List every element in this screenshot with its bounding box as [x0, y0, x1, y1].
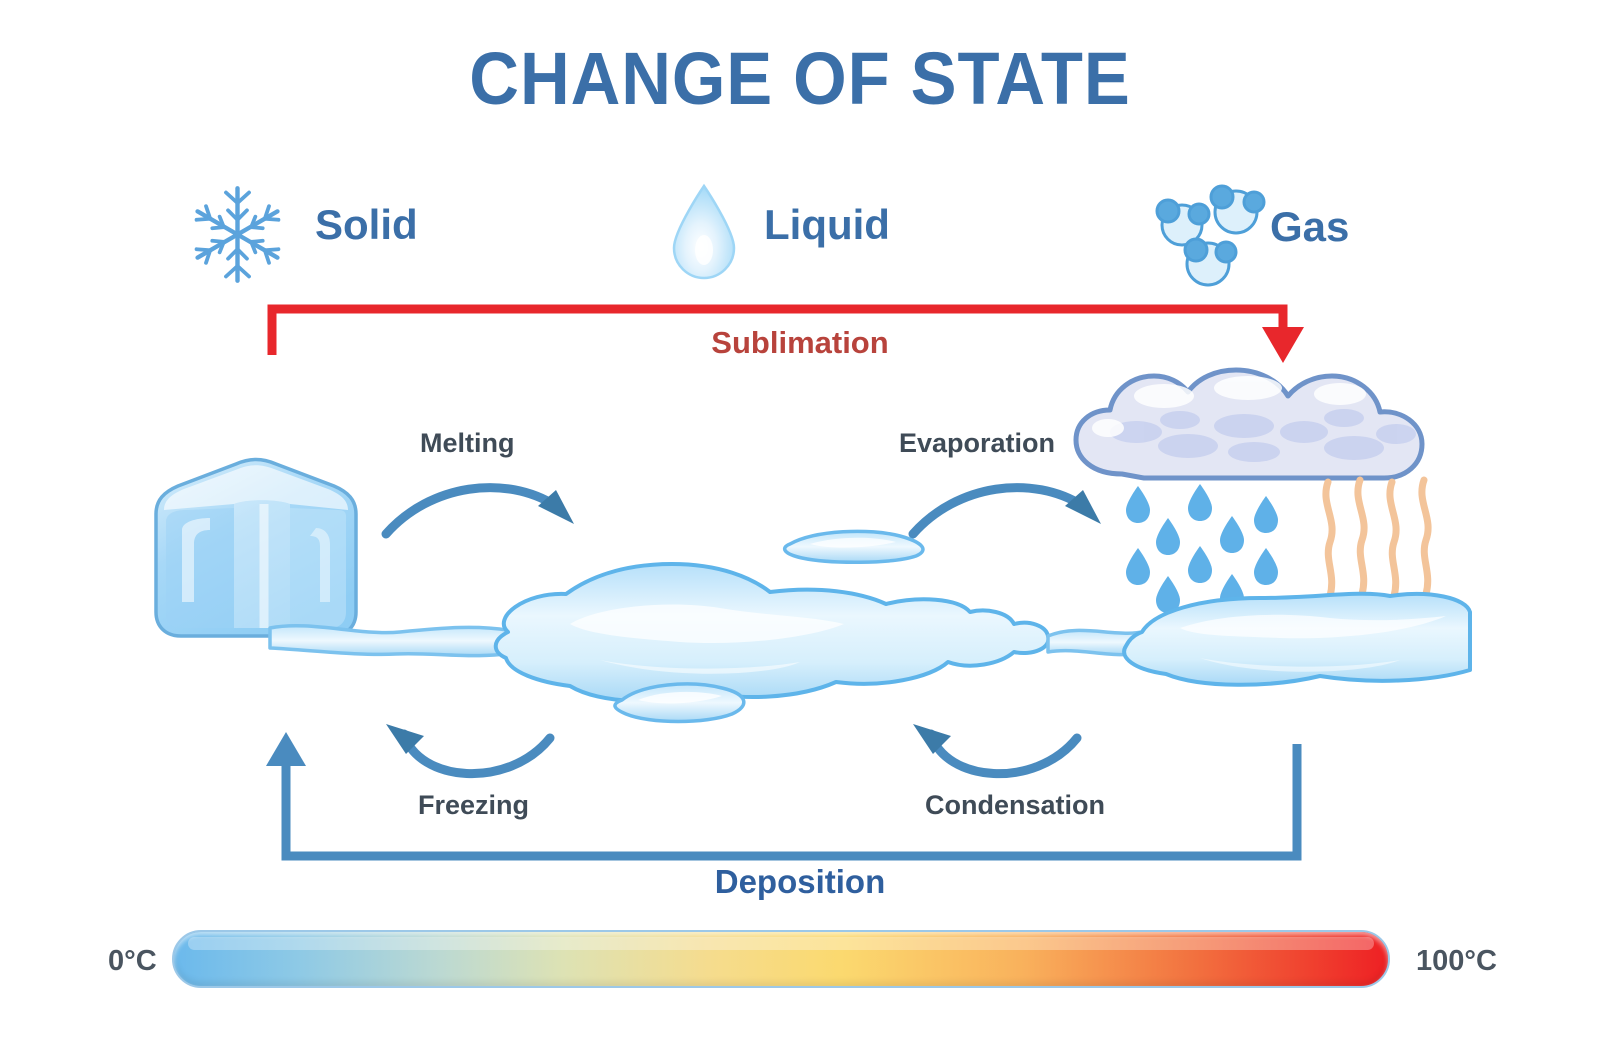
page-title: CHANGE OF STATE: [56, 42, 1544, 116]
diagram-canvas: CHANGE OF STATE: [0, 0, 1600, 1056]
rain-cloud-illustration: [1058, 362, 1458, 497]
label-melting: Melting: [420, 428, 515, 459]
water-puddle-illustration: [270, 520, 1470, 740]
legend-item-gas: Gas: [1148, 180, 1438, 285]
scale-min-label: 0°C: [108, 945, 157, 978]
deposition-arrow: [250, 730, 1320, 870]
label-sublimation: Sublimation: [0, 325, 1600, 361]
label-evaporation: Evaporation: [899, 428, 1055, 459]
snowflake-icon: [185, 182, 290, 287]
legend-item-solid: Solid: [185, 180, 455, 285]
legend-item-liquid: Liquid: [668, 180, 968, 285]
legend-label-gas: Gas: [1270, 206, 1349, 248]
label-deposition: Deposition: [0, 863, 1600, 901]
water-molecules-icon: [1148, 180, 1273, 288]
water-droplet-icon: [668, 182, 740, 282]
scale-max-label: 100°C: [1416, 945, 1497, 978]
temperature-gradient-bar: [172, 930, 1390, 988]
legend-label-liquid: Liquid: [764, 204, 890, 246]
legend-label-solid: Solid: [315, 204, 418, 246]
